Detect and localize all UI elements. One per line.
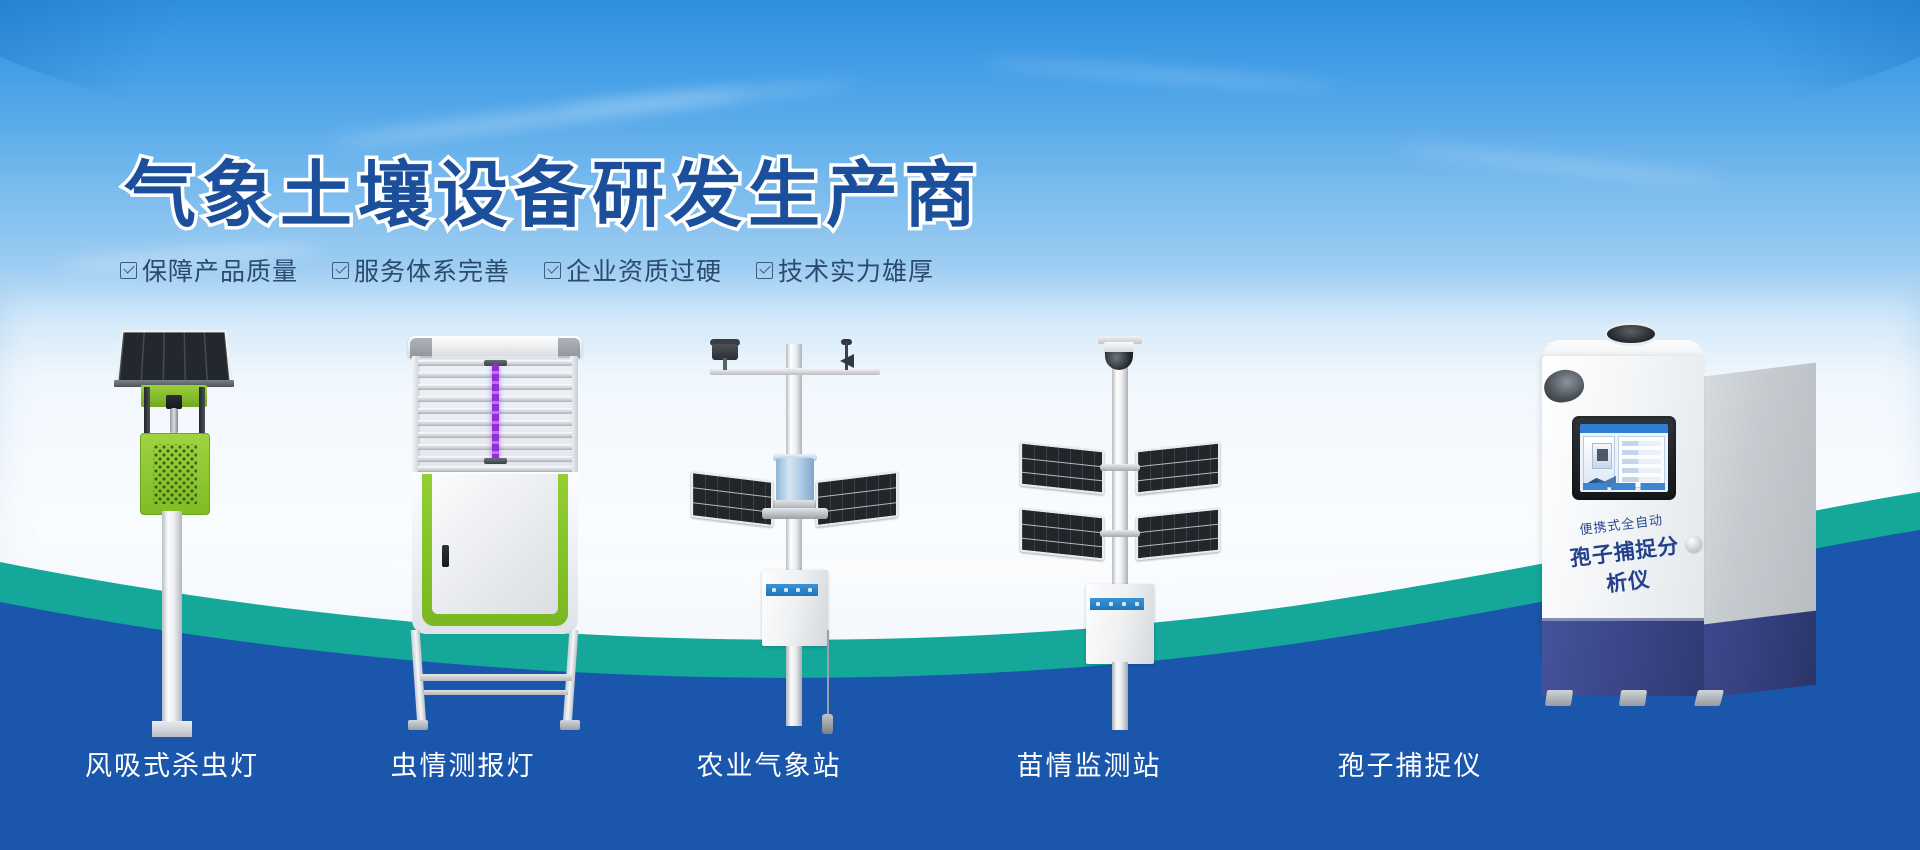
- panel-bracket: [1100, 464, 1140, 471]
- screen-button-bar: [1583, 483, 1665, 490]
- camera-icon: [1105, 352, 1133, 370]
- solar-panel-icon: [115, 330, 233, 385]
- cross-arm: [710, 368, 880, 375]
- lamp-cap: [484, 458, 507, 464]
- device-foot: [1619, 690, 1647, 706]
- product-insect-forecast-lamp: [400, 330, 590, 750]
- screen-preview-pane: [1583, 436, 1615, 488]
- roof-corner-cap: [558, 338, 580, 358]
- stand-crossbar: [424, 690, 568, 695]
- product-crop-monitoring-station: [1020, 330, 1220, 730]
- device-foot: [1694, 690, 1724, 706]
- uv-lamp-tube: [492, 364, 499, 460]
- rain-roof: [408, 336, 582, 358]
- control-box: [762, 570, 828, 646]
- cloud-wisp: [1400, 143, 1729, 188]
- wind-vane-stem: [845, 342, 848, 370]
- cabinet-door: [432, 474, 558, 614]
- feature-label: 服务体系完善: [354, 252, 510, 288]
- feature-item: 技术实力雄厚: [756, 252, 934, 288]
- device-foot: [1545, 690, 1573, 706]
- insect-collection-cage: [140, 433, 210, 515]
- door-handle-knob[interactable]: [1686, 536, 1702, 552]
- stand-crossbar: [420, 674, 572, 681]
- fan-motor: [166, 395, 182, 409]
- base-seam: [1542, 618, 1704, 621]
- feature-label: 保障产品质量: [142, 252, 298, 288]
- solar-panel-icon: [1020, 442, 1104, 495]
- soil-sensor-icon: [822, 714, 833, 734]
- checkbox-checked-icon: [544, 262, 561, 279]
- station-lower-mast: [786, 646, 802, 726]
- solar-panel-icon: [691, 471, 773, 527]
- feature-label: 企业资质过硬: [566, 252, 722, 288]
- device-base: [1542, 618, 1704, 696]
- solar-panel-icon: [1136, 508, 1220, 561]
- anemometer-stem: [723, 358, 727, 370]
- foot-pad: [560, 720, 580, 730]
- page-title: 气象土壤设备研发生产商: [124, 136, 982, 241]
- screen-settings-pane: [1618, 436, 1665, 488]
- product-agro-weather-station: [690, 330, 900, 730]
- mesh-pattern: [153, 444, 197, 504]
- feature-list: 保障产品质量 服务体系完善 企业资质过硬 技术实力雄厚: [120, 252, 934, 288]
- product-label-crop-monitoring-station: 苗情监测站: [1017, 744, 1162, 783]
- control-box: [1086, 584, 1154, 664]
- feature-label: 技术实力雄厚: [778, 252, 934, 288]
- cabinet-lock-icon: [442, 545, 449, 567]
- support-strut: [199, 387, 205, 439]
- device-branding: 便携式全自动 孢子捕捉分析仪: [1555, 506, 1694, 603]
- product-label-agro-weather-station: 农业气象站: [697, 744, 842, 783]
- solar-panel-icon: [816, 471, 898, 527]
- panel-bracket: [1100, 530, 1140, 537]
- rain-gauge-icon: [776, 458, 814, 502]
- product-wind-suction-lamp: [96, 325, 276, 745]
- support-strut: [144, 387, 150, 439]
- product-spore-catcher: 便携式全自动 孢子捕捉分析仪: [1520, 318, 1850, 738]
- sensor-cable: [827, 630, 829, 720]
- foot-pad: [408, 720, 428, 730]
- panel-mount-hub: [762, 508, 828, 519]
- feature-item: 保障产品质量: [120, 252, 298, 288]
- roof-corner-cap: [410, 338, 432, 358]
- feature-item: 服务体系完善: [332, 252, 510, 288]
- solar-panel-icon: [1136, 442, 1220, 495]
- station-lower-mast: [1112, 662, 1128, 730]
- product-label-spore-catcher: 孢子捕捉仪: [1338, 744, 1483, 783]
- checkbox-checked-icon: [120, 262, 137, 279]
- checkbox-checked-icon: [756, 262, 773, 279]
- control-box-indicator-strip: [766, 584, 818, 596]
- checkbox-checked-icon: [332, 262, 349, 279]
- support-pole: [162, 511, 182, 725]
- product-label-wind-suction-lamp: 风吸式杀虫灯: [85, 744, 259, 783]
- control-box-indicator-strip: [1090, 598, 1144, 610]
- pole-base: [152, 721, 192, 737]
- device-side-base: [1696, 611, 1816, 700]
- product-label-row: 风吸式杀虫灯 虫情测报灯 农业气象站 苗情监测站 孢子捕捉仪: [0, 744, 1920, 784]
- product-label-insect-forecast-lamp: 虫情测报灯: [391, 744, 536, 783]
- promo-banner: 气象土壤设备研发生产商 保障产品质量 服务体系完善 企业资质过硬 技术实力雄厚: [0, 0, 1920, 850]
- solar-panel-icon: [1020, 508, 1104, 561]
- screen-thumbnail: [1592, 443, 1612, 469]
- touchscreen-display[interactable]: [1580, 424, 1668, 492]
- lamp-tube: [170, 408, 178, 434]
- feature-item: 企业资质过硬: [544, 252, 722, 288]
- air-intake-port-icon: [1604, 322, 1658, 346]
